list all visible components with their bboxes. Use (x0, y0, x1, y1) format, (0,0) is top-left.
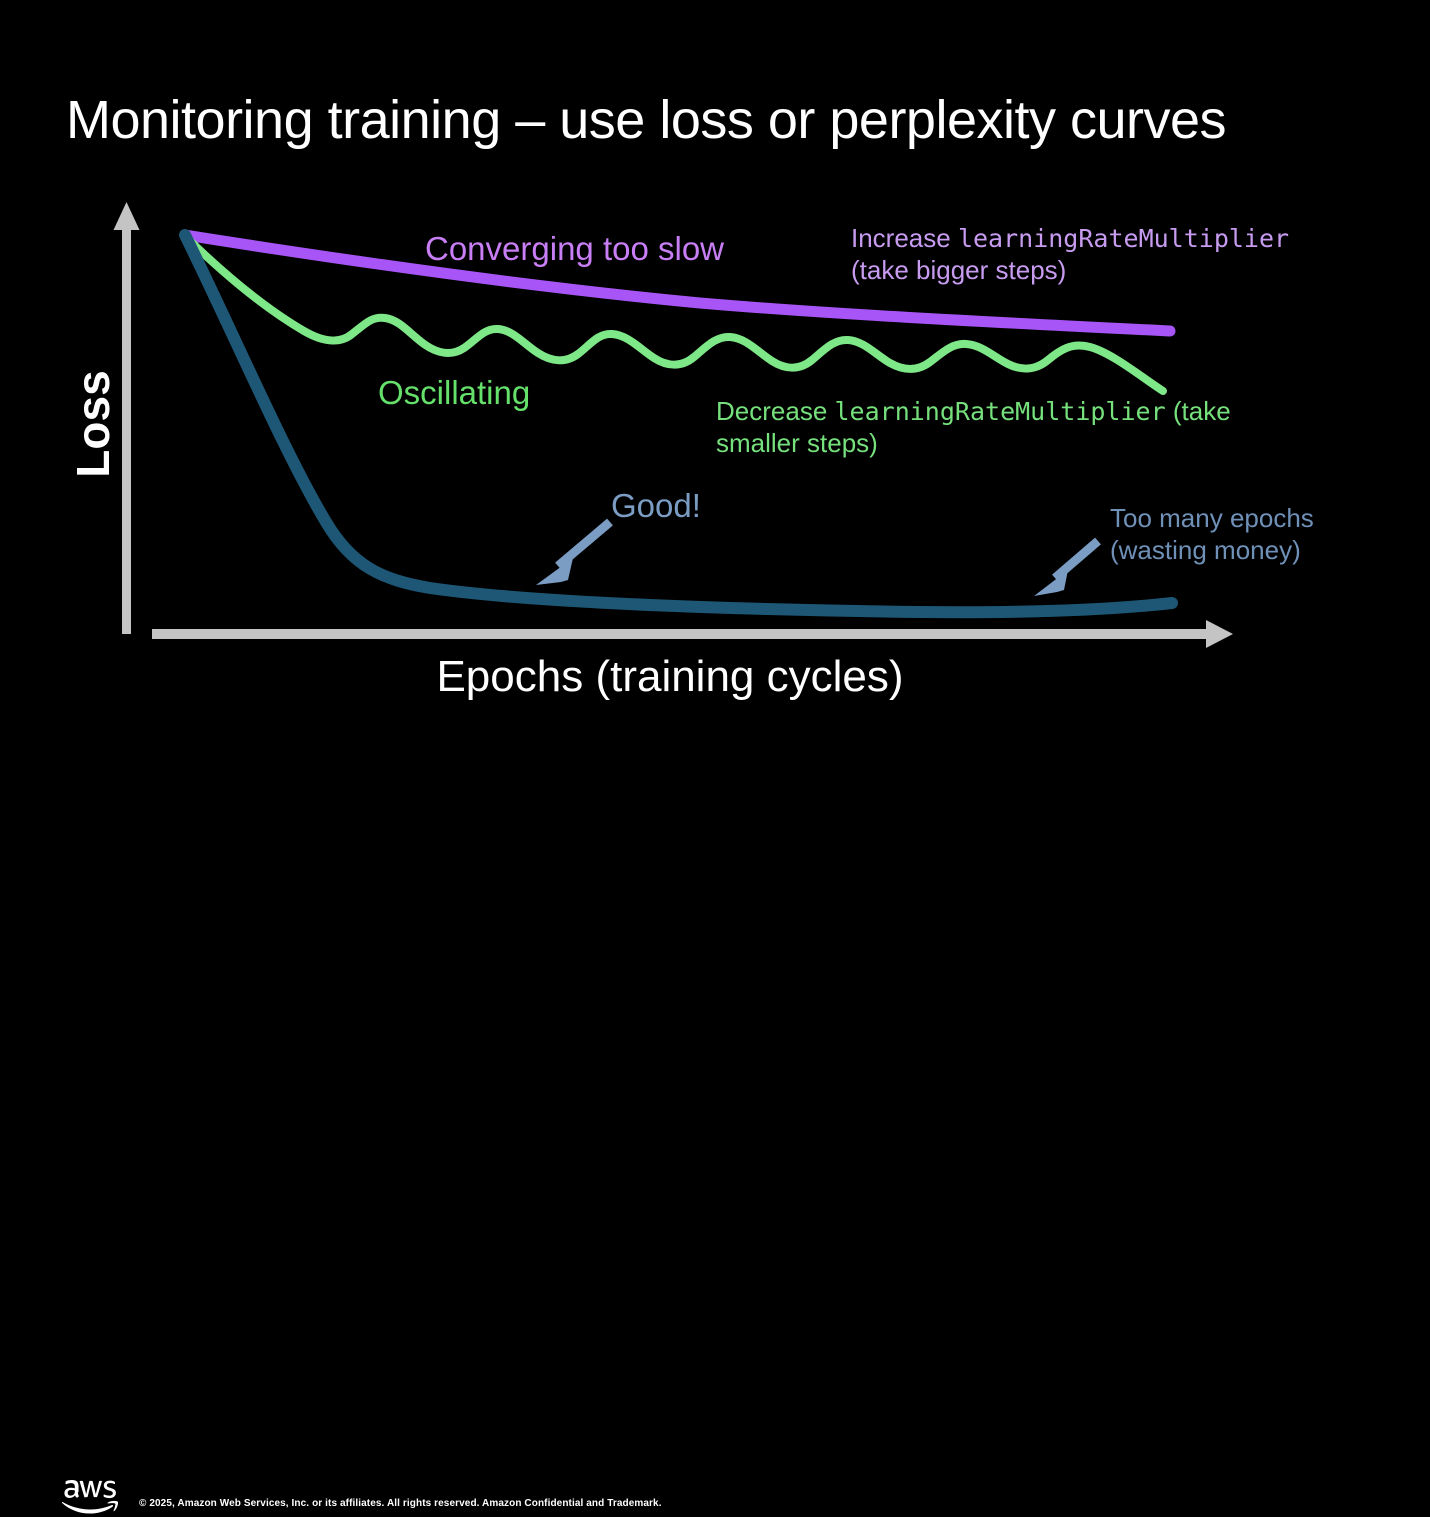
annotation-epochs-line1: Too many epochs (1110, 503, 1314, 533)
annotation-decrease-code: learningRateMultiplier (835, 397, 1166, 426)
annotation-increase-prefix: Increase (851, 223, 958, 253)
curve-label-oscillating: Oscillating (378, 374, 530, 412)
curve-label-converging-too-slow: Converging too slow (425, 230, 724, 268)
annotation-increase-lrm: Increase learningRateMultiplier (take bi… (851, 223, 1321, 287)
annotation-decrease-prefix: Decrease (716, 396, 835, 426)
annotation-decrease-lrm: Decrease learningRateMultiplier (take sm… (716, 396, 1246, 460)
page-title: Monitoring training – use loss or perple… (66, 92, 1366, 149)
x-axis-arrow (152, 620, 1233, 648)
annotation-increase-code: learningRateMultiplier (958, 224, 1289, 253)
curve-label-good: Good! (611, 487, 701, 525)
slide-root: Monitoring training – use loss or perple… (0, 0, 1430, 805)
epochs-pointer-arrow (1034, 541, 1098, 596)
annotation-increase-suffix: (take bigger steps) (851, 255, 1066, 285)
aws-logo-icon (62, 1477, 118, 1517)
good-pointer-arrow (536, 522, 610, 585)
x-axis-label: Epochs (training cycles) (0, 652, 1340, 702)
annotation-epochs-line2: (wasting money) (1110, 535, 1301, 565)
slide-footer: © 2025, Amazon Web Services, Inc. or its… (0, 745, 1430, 805)
annotation-too-many-epochs: Too many epochs (wasting money) (1110, 503, 1410, 567)
copyright-text: © 2025, Amazon Web Services, Inc. or its… (139, 1498, 662, 1509)
y-axis-label: Loss (66, 334, 120, 514)
